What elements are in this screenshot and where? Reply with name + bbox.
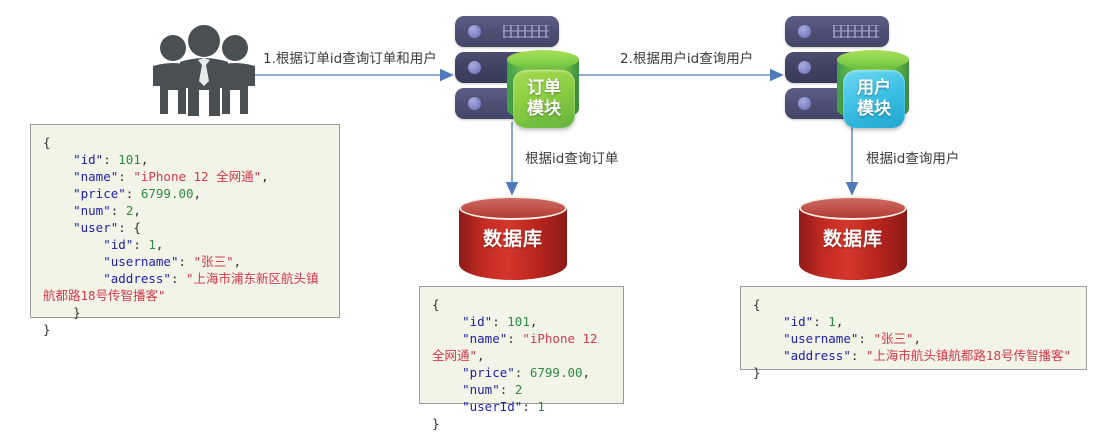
user-database-cylinder[interactable]: 数据库 xyxy=(799,196,907,288)
json-line: "address": "上海市浦东新区航头镇航都路18号传智播客" xyxy=(43,270,329,304)
json-token-p: : xyxy=(103,152,118,167)
json-token-p: , xyxy=(156,237,164,252)
json-token-p: } xyxy=(753,365,761,380)
json-token-s: "上海市航头镇航都路18号传智播客" xyxy=(866,348,1071,363)
flow-label-step1: 1.根据订单id查询订单和用户 xyxy=(263,47,437,67)
json-token-k: "num" xyxy=(462,382,500,397)
user-module-label-line2: 模块 xyxy=(857,99,891,120)
server-vents-icon xyxy=(503,25,549,38)
json-token-p: { xyxy=(432,297,440,312)
json-token-p: } xyxy=(432,416,440,431)
order-module-label-line1: 订单 xyxy=(527,78,561,99)
json-line: { xyxy=(432,296,613,313)
json-token-p: , xyxy=(914,331,922,346)
order-server-rack[interactable]: 订单 模块 xyxy=(455,16,559,120)
json-line: "id": 101, xyxy=(432,313,613,330)
json-token-s: "张三" xyxy=(873,331,913,346)
server-led-icon xyxy=(798,25,811,38)
server-led-icon xyxy=(798,97,811,110)
server-led-icon xyxy=(468,61,481,74)
json-token-p: : xyxy=(492,314,507,329)
json-token-p: } xyxy=(73,305,81,320)
server-led-icon xyxy=(468,25,481,38)
json-token-k: "user" xyxy=(73,220,118,235)
users-group-icon xyxy=(146,18,262,116)
user-module-label-line1: 用户 xyxy=(857,78,891,99)
json-token-p: { xyxy=(43,135,51,150)
json-line: "price": 6799.00, xyxy=(432,364,613,381)
json-line: "name": "iPhone 12 全网通", xyxy=(43,168,329,185)
json-token-k: "id" xyxy=(462,314,492,329)
json-token-p: } xyxy=(43,322,51,337)
json-token-s: "张三" xyxy=(194,254,234,269)
json-token-n: 6799.00 xyxy=(530,365,583,380)
json-line: "num": 2 xyxy=(432,381,613,398)
json-token-p: : xyxy=(522,399,537,414)
json-token-n: 6799.00 xyxy=(141,186,194,201)
json-token-p: , xyxy=(194,186,202,201)
json-token-p: { xyxy=(753,297,761,312)
order-module-badge[interactable]: 订单 模块 xyxy=(507,50,579,128)
server-bay xyxy=(785,16,889,47)
json-token-p: : xyxy=(133,237,148,252)
json-line: "id": 1, xyxy=(753,313,1076,330)
json-token-k: "username" xyxy=(783,331,858,346)
json-token-n: 101 xyxy=(118,152,141,167)
flow-label-user-db-query: 根据id查询用户 xyxy=(866,147,959,167)
json-token-k: "address" xyxy=(103,271,171,286)
user-module-badge[interactable]: 用户 模块 xyxy=(837,50,909,128)
json-line: { xyxy=(753,296,1076,313)
user-server-rack[interactable]: 用户 模块 xyxy=(785,16,889,120)
json-token-p: : xyxy=(171,271,186,286)
json-line: "num": 2, xyxy=(43,202,329,219)
json-line: "id": 1, xyxy=(43,236,329,253)
json-token-k: "price" xyxy=(462,365,515,380)
json-line: "name": "iPhone 12 全网通", xyxy=(432,330,613,364)
server-bay xyxy=(455,16,559,47)
json-token-k: "num" xyxy=(73,203,111,218)
json-token-k: "name" xyxy=(73,169,118,184)
json-token-p: , xyxy=(477,348,485,363)
json-token-k: "id" xyxy=(73,152,103,167)
order-json-box: { "id": 101, "name": "iPhone 12 全网通", "p… xyxy=(419,286,624,404)
json-line: { xyxy=(43,134,329,151)
flow-label-step2: 2.根据用户id查询用户 xyxy=(620,47,753,67)
json-token-k: "price" xyxy=(73,186,126,201)
database-top xyxy=(799,196,907,220)
json-line: } xyxy=(753,364,1076,381)
json-token-k: "id" xyxy=(783,314,813,329)
json-token-p: , xyxy=(234,254,242,269)
json-token-n: 1 xyxy=(828,314,836,329)
order-database-label: 数据库 xyxy=(459,224,567,251)
json-token-k: "userId" xyxy=(462,399,522,414)
json-token-n: 1 xyxy=(148,237,156,252)
order-database-cylinder[interactable]: 数据库 xyxy=(459,196,567,288)
json-line: } xyxy=(432,415,613,432)
database-top xyxy=(459,196,567,220)
json-line: "username": "张三", xyxy=(753,330,1076,347)
server-led-icon xyxy=(468,97,481,110)
json-token-n: 1 xyxy=(537,399,545,414)
json-token-p: : xyxy=(813,314,828,329)
user-database-label: 数据库 xyxy=(799,224,907,251)
json-token-p: , xyxy=(133,203,141,218)
json-token-p: : xyxy=(500,382,515,397)
order-with-user-json-box: { "id": 101, "name": "iPhone 12 全网通", "p… xyxy=(30,124,340,318)
json-token-k: "username" xyxy=(103,254,178,269)
server-vents-icon xyxy=(833,25,879,38)
flow-label-order-db-query: 根据id查询订单 xyxy=(525,147,618,167)
json-token-p: , xyxy=(141,152,149,167)
json-line: "price": 6799.00, xyxy=(43,185,329,202)
json-line: } xyxy=(43,304,329,321)
json-token-p: : xyxy=(178,254,193,269)
json-token-p: : xyxy=(118,169,133,184)
module-cylinder-top xyxy=(507,50,579,69)
json-token-p: : xyxy=(515,365,530,380)
json-line: "username": "张三", xyxy=(43,253,329,270)
order-module-label-line2: 模块 xyxy=(527,99,561,120)
json-line: "user": { xyxy=(43,219,329,236)
json-line: "id": 101, xyxy=(43,151,329,168)
json-line: "address": "上海市航头镇航都路18号传智播客" xyxy=(753,347,1076,364)
json-token-p: : xyxy=(126,186,141,201)
json-token-k: "name" xyxy=(462,331,507,346)
json-token-p: : { xyxy=(118,220,141,235)
diagram-canvas: 订单 模块 用户 模块 数据库 xyxy=(0,0,1098,409)
module-cylinder-top xyxy=(837,50,909,69)
user-json-box: { "id": 1, "username": "张三", "address": … xyxy=(740,286,1087,370)
server-led-icon xyxy=(798,61,811,74)
user-module-tile[interactable]: 用户 模块 xyxy=(843,70,905,128)
json-token-k: "id" xyxy=(103,237,133,252)
json-token-p: : xyxy=(111,203,126,218)
json-token-p: , xyxy=(583,365,591,380)
json-line: } xyxy=(43,321,329,338)
json-token-k: "address" xyxy=(783,348,851,363)
order-module-tile[interactable]: 订单 模块 xyxy=(513,70,575,128)
json-token-p: : xyxy=(851,348,866,363)
json-token-p: : xyxy=(507,331,522,346)
json-token-p: , xyxy=(836,314,844,329)
json-token-p: , xyxy=(261,169,269,184)
json-token-p: , xyxy=(530,314,538,329)
json-token-s: "iPhone 12 全网通" xyxy=(133,169,261,184)
json-token-n: 101 xyxy=(507,314,530,329)
json-token-p: : xyxy=(858,331,873,346)
json-token-n: 2 xyxy=(515,382,523,397)
json-line: "userId": 1 xyxy=(432,398,613,415)
